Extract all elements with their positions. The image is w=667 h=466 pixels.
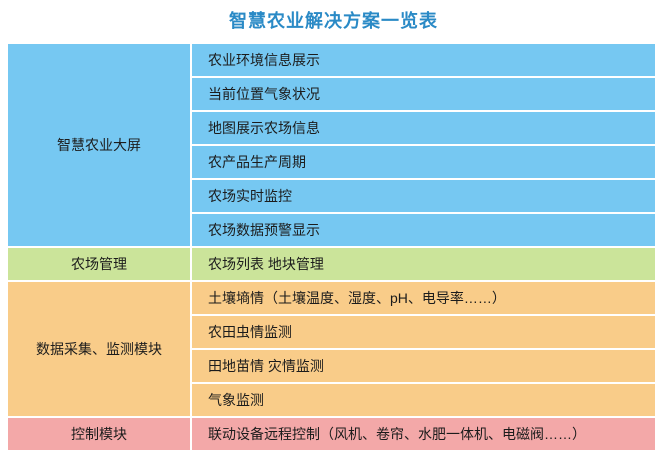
solution-table: 智慧农业大屏 农业环境信息展示 当前位置气象状况 地图展示农场信息 农产品生产周…: [8, 44, 655, 450]
section-rows: 农场列表 地块管理: [192, 248, 655, 280]
table-section: 智慧农业大屏 农业环境信息展示 当前位置气象状况 地图展示农场信息 农产品生产周…: [8, 44, 655, 246]
table-row: 联动设备远程控制（风机、卷帘、水肥一体机、电磁阀……）: [192, 418, 655, 450]
table-row: 农场实时监控: [192, 180, 655, 212]
section-rows: 联动设备远程控制（风机、卷帘、水肥一体机、电磁阀……）: [192, 418, 655, 450]
section-category-label: 智慧农业大屏: [8, 44, 190, 246]
table-section: 数据采集、监测模块 土壤墒情（土壤温度、湿度、pH、电导率……） 农田虫情监测 …: [8, 282, 655, 416]
table-row: 土壤墒情（土壤温度、湿度、pH、电导率……）: [192, 282, 655, 314]
table-row: 农场列表 地块管理: [192, 248, 655, 280]
table-row: 地图展示农场信息: [192, 112, 655, 144]
table-row: 气象监测: [192, 384, 655, 416]
section-rows: 土壤墒情（土壤温度、湿度、pH、电导率……） 农田虫情监测 田地苗情 灾情监测 …: [192, 282, 655, 416]
table-section: 农场管理 农场列表 地块管理: [8, 248, 655, 280]
section-rows: 农业环境信息展示 当前位置气象状况 地图展示农场信息 农产品生产周期 农场实时监…: [192, 44, 655, 246]
page-title: 智慧农业解决方案一览表: [0, 9, 667, 33]
table-row: 农产品生产周期: [192, 146, 655, 178]
table-section: 控制模块 联动设备远程控制（风机、卷帘、水肥一体机、电磁阀……）: [8, 418, 655, 450]
table-row: 农场数据预警显示: [192, 214, 655, 246]
table-row: 农田虫情监测: [192, 316, 655, 348]
section-category-label: 控制模块: [8, 418, 190, 450]
section-category-label: 农场管理: [8, 248, 190, 280]
page-root: 智慧农业解决方案一览表 智慧农业大屏 农业环境信息展示 当前位置气象状况 地图展…: [0, 0, 667, 466]
table-row: 当前位置气象状况: [192, 78, 655, 110]
table-row: 田地苗情 灾情监测: [192, 350, 655, 382]
table-row: 农业环境信息展示: [192, 44, 655, 76]
section-category-label: 数据采集、监测模块: [8, 282, 190, 416]
